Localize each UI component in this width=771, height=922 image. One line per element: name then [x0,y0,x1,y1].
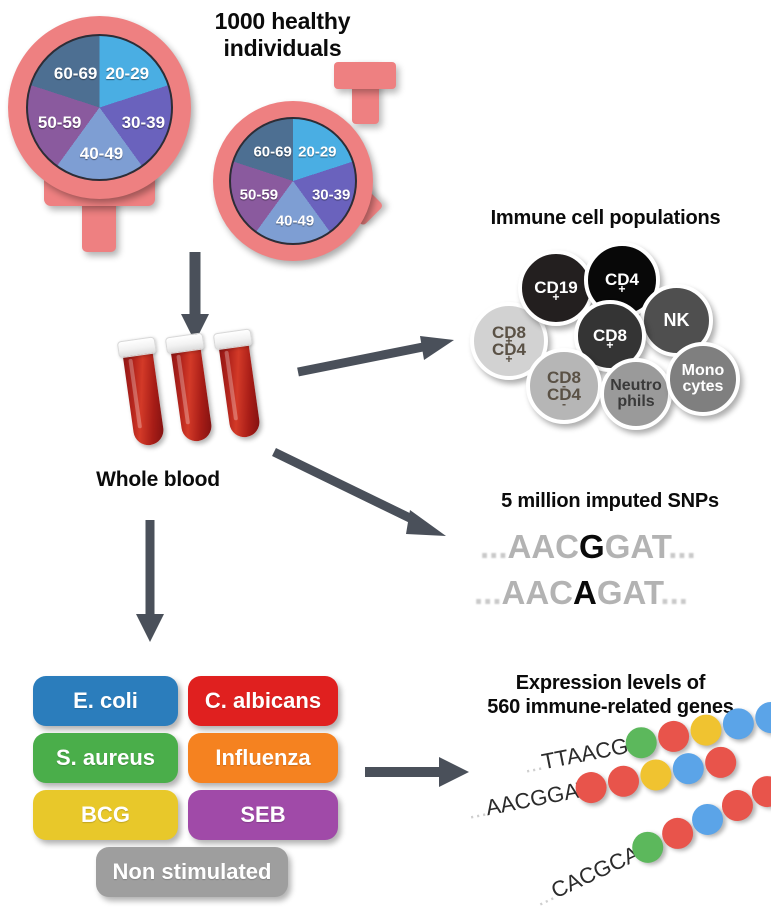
snp-left: AAC [502,574,574,611]
cell-neutrophils-line1: Neutro [610,378,662,394]
pie-slice-label-40-49: 40-49 [276,213,314,230]
cell-cd4-label: CD4+ [605,271,639,289]
snp-variant-allele: G [579,528,605,565]
expression-strand-sequence: ...AACGGAT [466,776,593,825]
arrow-blood-to-snps [270,448,455,543]
expression-bead [655,718,691,754]
snp-variant-allele: A [573,574,597,611]
snp-left: AAC [508,528,580,565]
stimulus-non-stimulated-label: Non stimulated [113,859,272,885]
snp-suffix: ... [660,574,688,611]
snp-prefix: ... [474,574,502,611]
cell-neutrophils[interactable]: Neutro phils [600,358,672,430]
stimulus-c-albicans-label: C. albicans [205,688,321,714]
arrow-cohort-to-blood [175,252,215,344]
tube-body [122,346,165,447]
cell-cd8n-cd4n-line2: CD4- [547,386,581,404]
expression-bead [670,750,706,786]
tube-shine [128,359,142,429]
cell-cd8n-cd4n[interactable]: CD8- CD4- [526,348,602,424]
immune-cell-cluster: CD8+ CD4+ CD19+ CD4+ NK CD8+ CD8- CD4- [460,240,771,420]
pie-slice-label-20-29: 20-29 [298,144,336,161]
expression-strands: ...TTAACGG ...AACGGAT ...CACGCAA [440,740,771,920]
pie-slice-label-30-39: 30-39 [122,113,165,133]
expression-title-line1: Expression levels of [450,672,771,696]
figure-canvas: 1000 healthy individuals 20-2930-3940-49… [0,0,771,922]
pie-slice-label-30-39: 30-39 [312,186,350,203]
snp-sequences: ...AACGGAT... ...AACAGAT... [470,528,760,620]
stimulus-seb-label: SEB [240,802,285,828]
tube-body [170,342,213,443]
cohort-title: 1000 healthy individuals [175,8,390,62]
cell-neutrophils-line2: phils [610,394,662,410]
cell-cd8-label: CD8+ [593,327,627,345]
stimulus-s-aureus[interactable]: S. aureus [33,733,178,783]
expression-title: Expression levels of 560 immune-related … [450,672,771,719]
snp-right: GAT [605,528,669,565]
stimulus-e-coli[interactable]: E. coli [33,676,178,726]
stimulus-bcg[interactable]: BCG [33,790,178,840]
cell-monocytes-line2: cytes [682,379,725,395]
female-pie-chart: 20-2930-3940-4950-5960-69 [26,34,173,181]
snp-suffix: ... [668,528,696,565]
snp-sequence-row: ...AACGGAT... [480,528,696,566]
stimulus-bcg-label: BCG [81,802,130,828]
immune-title: Immune cell populations [440,207,771,231]
cell-nk-label: NK [664,311,690,330]
cell-cd19-label: CD19+ [534,279,577,297]
tube-shine [224,351,238,421]
snp-prefix: ... [480,528,508,565]
tube-shine [176,355,190,425]
pie-slice-label-40-49: 40-49 [80,144,123,164]
cell-cd8p-cd4p-line2: CD4+ [492,341,526,359]
cell-monocytes-line1: Mono [682,363,725,379]
male-pie-chart: 20-2930-3940-4950-5960-69 [229,117,357,245]
stimulus-non-stimulated[interactable]: Non stimulated [96,847,288,897]
pie-slice-label-50-59: 50-59 [240,186,278,203]
snps-title: 5 million imputed SNPs [450,490,770,514]
cell-cd8p-cd4p-line1: CD8+ [492,324,526,342]
pie-slice-label-60-69: 60-69 [253,144,291,161]
expression-bead [703,744,739,780]
expression-bead [638,757,674,793]
whole-blood-label: Whole blood [48,468,268,493]
stimulus-s-aureus-label: S. aureus [56,745,155,771]
pie-slice-label-60-69: 60-69 [54,64,97,84]
cohort-title-line2: individuals [175,35,390,62]
snp-sequence-row: ...AACAGAT... [474,574,688,612]
female-symbol: 20-2930-3940-4950-5960-69 [8,16,198,256]
stimulus-influenza-label: Influenza [215,745,310,771]
arrow-blood-to-stimuli [130,520,170,645]
stimulus-c-albicans[interactable]: C. albicans [188,676,338,726]
pie-slice-label-20-29: 20-29 [106,64,149,84]
cell-monocytes[interactable]: Mono cytes [666,342,740,416]
male-arrowhead-horizontal [334,62,396,89]
cell-cd8n-cd4n-line1: CD8- [547,369,581,387]
tube-body [218,338,261,439]
blood-tubes [110,340,280,465]
expression-bead [605,763,641,799]
snp-right: GAT [597,574,661,611]
stimulus-influenza[interactable]: Influenza [188,733,338,783]
stimuli-panel: E. coli C. albicans S. aureus Influenza … [33,676,343,896]
cohort-title-line1: 1000 healthy [175,8,390,35]
pie-slice-label-50-59: 50-59 [38,113,81,133]
male-symbol: 20-2930-3940-4950-5960-69 [208,64,423,254]
stimulus-seb[interactable]: SEB [188,790,338,840]
arrow-blood-to-immune [296,332,461,380]
expression-title-line2: 560 immune-related genes [450,696,771,720]
stimulus-e-coli-label: E. coli [73,688,138,714]
